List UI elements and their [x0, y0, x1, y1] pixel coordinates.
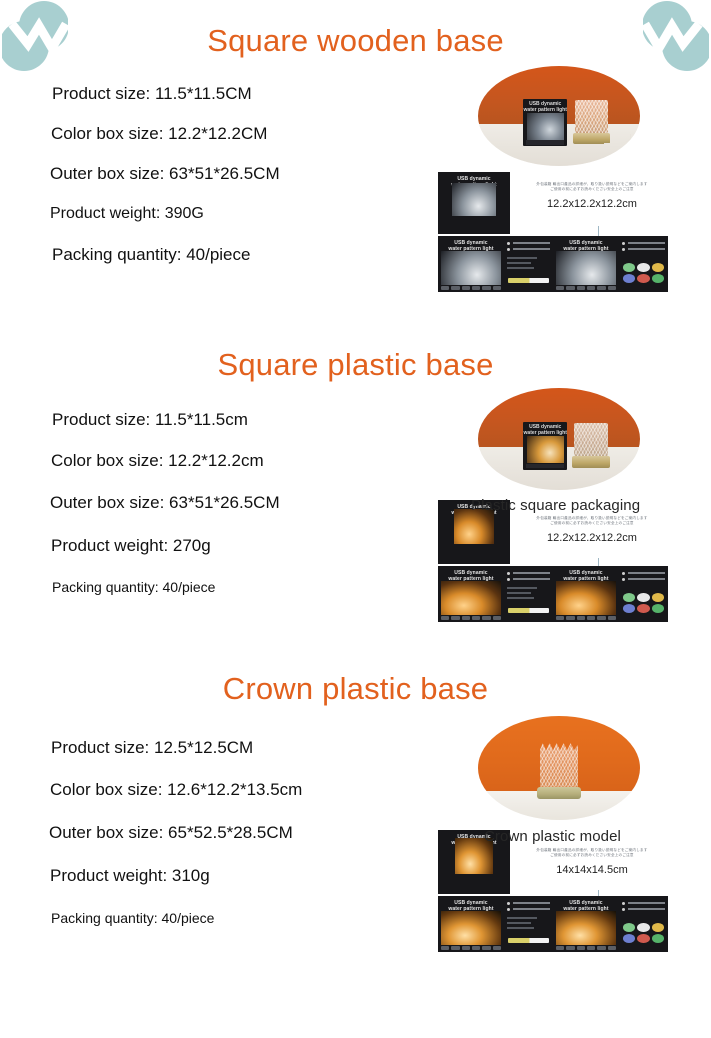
feature-icon-row — [441, 614, 502, 621]
spec-bullet — [507, 572, 550, 575]
packaging-panel-hero-alt: USB dynamicwater pattern light — [553, 236, 619, 292]
bullet-dot-icon — [622, 572, 625, 575]
feature-icon — [441, 946, 449, 950]
color-mode-swatches — [623, 263, 664, 283]
packaging-cell-front: USB dynamicwater pattern light — [438, 172, 510, 234]
spec-bullet-list — [507, 242, 550, 272]
bullet-dot-icon — [507, 242, 510, 245]
lamp-product — [574, 423, 608, 468]
retail-box-photo: USB dynamicwater pattern light — [523, 422, 567, 470]
swatch — [623, 604, 635, 613]
feature-icon — [493, 946, 501, 950]
retail-box-photo: USB dynamicwater pattern light — [523, 99, 567, 146]
spec-bullet-list — [622, 572, 665, 584]
spec-color-box-size: Color box size: 12.2*12.2cm — [51, 451, 422, 471]
spec-list: Product size: 11.5*11.5CM Color box size… — [50, 84, 420, 265]
spec-outer-box-size: Outer box size: 65*52.5*28.5CM — [49, 823, 421, 843]
feature-icon — [608, 946, 616, 950]
bullet-dot-icon — [507, 902, 510, 905]
spec-product-weight: Product weight: 270g — [51, 536, 422, 556]
swatch — [652, 274, 664, 283]
feature-icon-row — [556, 614, 617, 621]
bullet-dot-icon — [507, 578, 510, 581]
feature-icon — [577, 946, 585, 950]
feature-icon — [597, 286, 605, 290]
feature-icon-row — [441, 284, 502, 291]
feature-icon — [493, 286, 501, 290]
swatch — [637, 923, 649, 932]
lamp-product — [540, 743, 579, 799]
packaging-panel-image — [556, 251, 617, 286]
packaging-panel-colors — [619, 896, 668, 952]
swatch — [652, 934, 664, 943]
spec-bullet — [622, 572, 665, 575]
packaging-panel-hero: USB dynamicwater pattern light — [438, 236, 504, 292]
feature-icon — [462, 946, 470, 950]
feature-icon — [493, 616, 501, 620]
hero-product-photo — [478, 716, 640, 820]
bullet-dot-icon — [622, 242, 625, 245]
color-mode-swatches — [623, 593, 664, 613]
feature-icon-row — [441, 944, 502, 951]
size-ruler-graphic — [508, 278, 549, 283]
section-body: Product size: 11.5*11.5CM Color box size… — [0, 84, 711, 384]
feature-icon — [577, 286, 585, 290]
packaging-dimensions: 12.2x12.2x12.2cm — [522, 532, 662, 544]
feature-icon — [566, 616, 574, 620]
feature-icon — [597, 616, 605, 620]
spec-bullet — [622, 908, 665, 911]
swatch — [623, 274, 635, 283]
packaging-info: 外包装箱 輸出口產品の詳細が、取り扱い説明などをご案内します ご使用の前に必ずお… — [522, 848, 662, 876]
color-mode-swatches — [623, 923, 664, 943]
lamp-base — [537, 787, 581, 799]
product-media: USB dynamicwater pattern light 外包装箱 輸出口產… — [432, 716, 672, 956]
spec-color-box-size: Color box size: 12.2*12.2CM — [51, 124, 420, 144]
packaging-cell-image — [452, 183, 495, 215]
feature-icon — [462, 286, 470, 290]
bullet-dot-icon — [507, 908, 510, 911]
retail-box-image — [527, 113, 564, 140]
spec-bullet — [622, 242, 665, 245]
spec-packing-quantity: Packing quantity: 40/piece — [51, 910, 421, 926]
swatch — [637, 604, 649, 613]
packaging-composite: USB dynamicwater pattern light 外包装箱 輸出口產… — [438, 500, 668, 622]
section-body: Product size: 11.5*11.5cm Color box size… — [0, 410, 711, 710]
swatch — [652, 604, 664, 613]
packaging-panel-image — [441, 581, 502, 616]
swatch — [652, 593, 664, 602]
retail-box-strip — [526, 464, 565, 468]
packaging-panel-image — [441, 911, 502, 946]
hero-ellipse-frame: USB dynamicwater pattern light — [478, 66, 640, 166]
feature-icon — [451, 946, 459, 950]
product-media: USB dynamicwater pattern light USB dynam… — [432, 66, 672, 296]
packaging-panel-row: USB dynamicwater pattern light — [438, 896, 668, 952]
packaging-fineprint: 外包装箱 輸出口產品の詳細が、取り扱い説明などをご案内します ご使用の前に必ずお… — [522, 848, 662, 859]
spec-product-size: Product size: 11.5*11.5CM — [52, 84, 420, 104]
spec-packing-quantity: Packing quantity: 40/piece — [52, 579, 422, 595]
lamp-product — [575, 100, 607, 144]
swatch — [652, 923, 664, 932]
feature-icon — [597, 946, 605, 950]
retail-box-title: USB dynamicwater pattern light — [523, 99, 567, 114]
packaging-panel-hero-alt: USB dynamicwater pattern light — [553, 896, 619, 952]
feature-icon — [451, 286, 459, 290]
packaging-panel-colors — [619, 236, 668, 292]
spec-list: Product size: 11.5*11.5cm Color box size… — [52, 410, 422, 595]
packaging-panel-image — [556, 581, 617, 616]
lamp-shade — [575, 100, 607, 133]
packaging-panel-specs — [504, 236, 553, 292]
spec-product-size: Product size: 12.5*12.5CM — [51, 738, 421, 758]
packaging-info: 外包装箱 輸出口產品の詳細が、取り扱い説明などをご案内します ご使用の前に必ずお… — [522, 182, 662, 210]
swatch — [637, 274, 649, 283]
feature-icon — [566, 286, 574, 290]
size-ruler-graphic — [508, 608, 549, 613]
hero-product-photo: USB dynamicwater pattern light — [478, 66, 640, 166]
spec-bullet — [507, 578, 550, 581]
packaging-caption: Crown plastic model — [484, 828, 621, 845]
packaging-panel-image — [556, 911, 617, 946]
feature-icon — [482, 616, 490, 620]
packaging-info: 外包装箱 輸出口產品の詳細が、取り扱い説明などをご案内します ご使用の前に必ずお… — [522, 516, 662, 544]
feature-icon — [556, 616, 564, 620]
packaging-panel-hero: USB dynamicwater pattern light — [438, 566, 504, 622]
feature-icon — [556, 946, 564, 950]
retail-box-image — [527, 436, 564, 463]
spec-bullet-list — [622, 242, 665, 254]
packaging-panel-hero: USB dynamicwater pattern light — [438, 896, 504, 952]
section-crown-plastic-base: Crown plastic base Product size: 12.5*12… — [0, 672, 711, 1038]
spec-packing-quantity: Packing quantity: 40/piece — [52, 245, 420, 265]
swatch — [637, 593, 649, 602]
spec-product-weight: Product weight: 310g — [50, 866, 421, 886]
spec-product-size: Product size: 11.5*11.5cm — [52, 410, 422, 430]
section-title: Square wooden base — [0, 24, 711, 58]
spec-bullet-list — [507, 572, 550, 602]
feature-icon — [441, 286, 449, 290]
spec-text-lines — [507, 587, 550, 599]
packaging-fineprint: 外包装箱 輸出口產品の詳細が、取り扱い説明などをご案内します ご使用の前に必ずお… — [522, 182, 662, 193]
spec-list: Product size: 12.5*12.5CM Color box size… — [51, 738, 421, 926]
feature-icon — [462, 616, 470, 620]
feature-icon — [587, 616, 595, 620]
hero-product-photo: USB dynamicwater pattern light — [478, 388, 640, 490]
feature-icon — [472, 616, 480, 620]
swatch — [623, 593, 635, 602]
packaging-composite: USB dynamicwater pattern light 外包装箱 輸出口產… — [438, 830, 668, 952]
spec-bullet — [507, 908, 550, 911]
swatch — [623, 263, 635, 272]
spec-bullet-list — [622, 902, 665, 914]
spec-outer-box-size: Outer box size: 63*51*26.5CM — [50, 164, 420, 184]
feature-icon — [482, 286, 490, 290]
feature-icon — [472, 286, 480, 290]
spec-bullet — [507, 248, 550, 251]
packaging-dimensions: 12.2x12.2x12.2cm — [522, 198, 662, 210]
packaging-panel-specs — [504, 896, 553, 952]
spec-bullet-list — [507, 902, 550, 932]
bullet-dot-icon — [622, 578, 625, 581]
packaging-panel-row: USB dynamicwater pattern light — [438, 236, 668, 292]
spec-text-lines — [507, 917, 550, 929]
product-media: USB dynamicwater pattern light USB dynam… — [432, 388, 672, 628]
spec-product-weight: Product weight: 390G — [50, 205, 420, 223]
packaging-panel-specs — [504, 566, 553, 622]
spec-bullet — [507, 242, 550, 245]
spec-outer-box-size: Outer box size: 63*51*26.5CM — [50, 493, 422, 513]
hero-ellipse-frame — [478, 716, 640, 820]
bullet-dot-icon — [622, 908, 625, 911]
packaging-panel-image — [441, 251, 502, 286]
feature-icon — [587, 946, 595, 950]
section-body: Product size: 12.5*12.5CM Color box size… — [0, 738, 711, 1038]
swatch — [623, 934, 635, 943]
section-square-wooden-base: Square wooden base Product size: 11.5*11… — [0, 24, 711, 384]
bullet-dot-icon — [622, 902, 625, 905]
feature-icon — [472, 946, 480, 950]
feature-icon — [587, 286, 595, 290]
feature-icon — [566, 946, 574, 950]
section-title: Square plastic base — [0, 348, 711, 382]
spec-color-box-size: Color box size: 12.6*12.2*13.5cm — [50, 780, 421, 800]
feature-icon — [608, 616, 616, 620]
retail-box-title: USB dynamicwater pattern light — [523, 422, 567, 437]
section-square-plastic-base: Square plastic base Product size: 11.5*1… — [0, 348, 711, 710]
packaging-panel-colors — [619, 566, 668, 622]
feature-icon — [577, 616, 585, 620]
retail-box-strip — [526, 140, 565, 144]
swatch — [637, 934, 649, 943]
packaging-panel-hero-alt: USB dynamicwater pattern light — [553, 566, 619, 622]
feature-icon-row — [556, 944, 617, 951]
packaging-dimensions: 14x14x14.5cm — [522, 864, 662, 876]
feature-icon — [482, 946, 490, 950]
lamp-shade — [574, 423, 608, 456]
spec-bullet — [622, 902, 665, 905]
bullet-dot-icon — [622, 248, 625, 251]
section-title: Crown plastic base — [0, 672, 711, 706]
swatch — [623, 923, 635, 932]
packaging-caption: Plastic square packaging — [471, 497, 640, 514]
feature-icon — [556, 286, 564, 290]
packaging-cell-image — [454, 509, 494, 544]
bullet-dot-icon — [507, 572, 510, 575]
feature-icon — [451, 616, 459, 620]
spec-bullet — [507, 902, 550, 905]
lamp-shade — [540, 743, 579, 787]
packaging-panel-row: USB dynamicwater pattern light — [438, 566, 668, 622]
feature-icon — [608, 286, 616, 290]
spec-text-lines — [507, 257, 550, 269]
packaging-fineprint: 外包装箱 輸出口產品の詳細が、取り扱い説明などをご案内します ご使用の前に必ずお… — [522, 516, 662, 527]
lamp-base — [572, 456, 610, 468]
packaging-composite: USB dynamicwater pattern light 外包装箱 輸出口產… — [438, 172, 668, 292]
swatch — [637, 263, 649, 272]
spec-bullet — [622, 578, 665, 581]
swatch — [652, 263, 664, 272]
feature-icon-row — [556, 284, 617, 291]
size-ruler-graphic — [508, 938, 549, 943]
spec-bullet — [622, 248, 665, 251]
bullet-dot-icon — [507, 248, 510, 251]
hero-ellipse-frame: USB dynamicwater pattern light — [478, 388, 640, 490]
feature-icon — [441, 616, 449, 620]
